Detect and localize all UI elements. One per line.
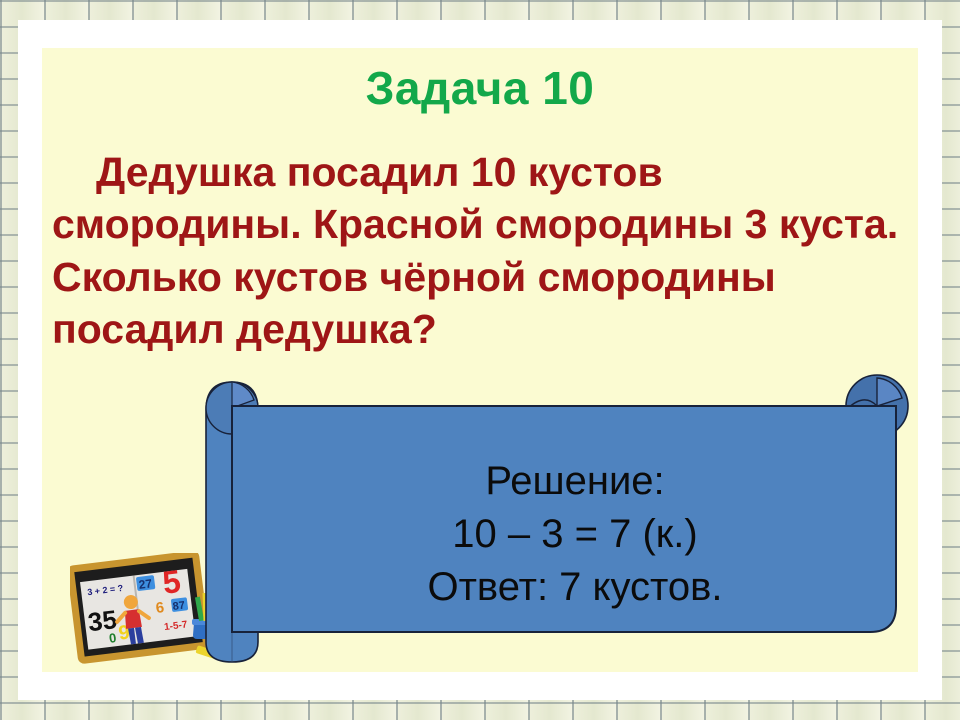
solution-heading: Решение: — [235, 455, 915, 508]
page-title: Задача 10 — [42, 64, 918, 112]
problem-text: Дедушка посадил 10 кустов смородины. Кра… — [52, 146, 908, 356]
slide-background: Задача 10 Дедушка посадил 10 кустов смор… — [0, 0, 960, 720]
solution-answer: Ответ: 7 кустов. — [235, 561, 915, 614]
svg-text:87: 87 — [172, 600, 186, 613]
solution-text: Решение: 10 – 3 = 7 (к.) Ответ: 7 кустов… — [235, 455, 915, 615]
chalkboard-icon: 3 + 2 = ? 35 0 9 27 5 6 87 1-5-7 — [70, 553, 238, 673]
svg-text:27: 27 — [138, 576, 153, 592]
solution-equation: 10 – 3 = 7 (к.) — [235, 508, 915, 561]
chalkboard-illustration: 3 + 2 = ? 35 0 9 27 5 6 87 1-5-7 — [70, 553, 238, 673]
